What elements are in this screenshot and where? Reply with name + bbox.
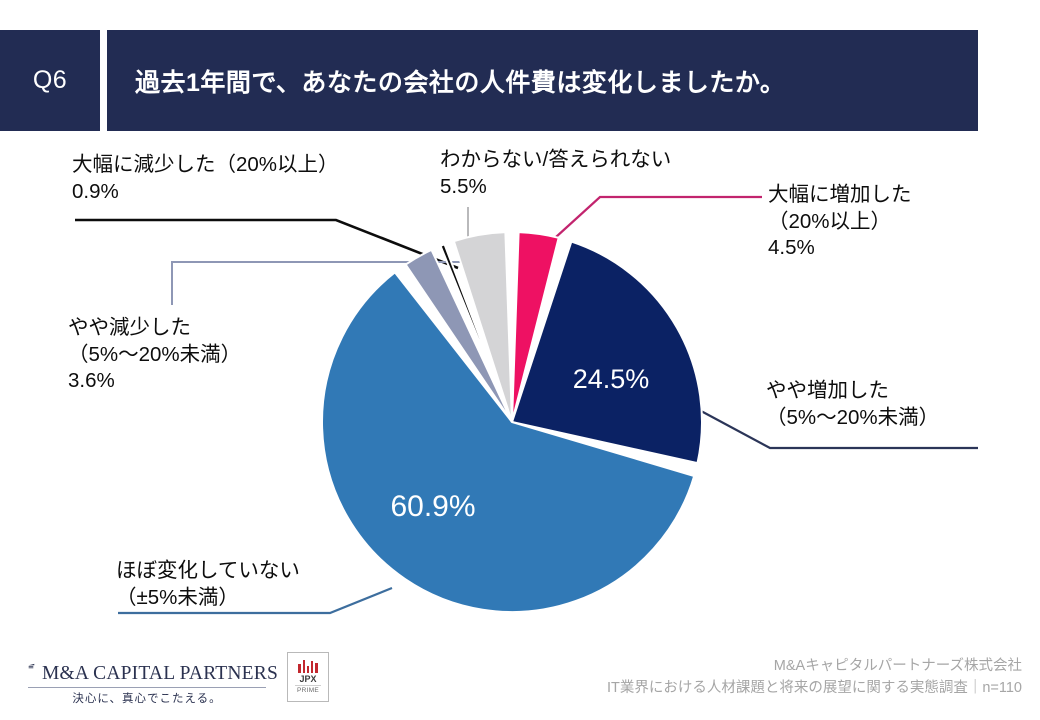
logo-divider [28,687,266,688]
logo-tagline: 決心に、真心でこたえる。 [28,690,266,706]
jpx-prime-badge: JPX PRIME [287,652,329,702]
jpx-label: JPX [299,675,316,684]
jpx-bars-icon [298,660,317,673]
logo-mark-icon [28,650,35,683]
callout-no-change: ほぼ変化していない （±5%未満） [116,558,300,611]
leader-line-big-increase [556,197,762,237]
slice-value-no-change: 60.9% [390,490,475,523]
callout-unknown: わからない/答えられない 5.5% [440,147,671,200]
slide-canvas: Q6 過去1年間で、あなたの会社の人件費は変化しましたか。 24.5% 60.9… [0,0,1040,720]
callout-small-increase: やや増加した （5%～20%未満） [766,378,939,431]
logo-wordmark: M&A CAPITAL PARTNERS [42,664,278,684]
footer-company: M&Aキャピタルパートナーズ株式会社 [607,655,1022,677]
pie-slices [322,232,702,612]
leader-line-big-decrease [75,220,458,268]
company-logo: M&A CAPITAL PARTNERS 決心に、真心でこたえる。 [28,650,278,706]
callout-big-increase: 大幅に増加した （20%以上） 4.5% [768,182,912,262]
slice-value-small-increase: 24.5% [573,364,650,394]
footer-credits: M&Aキャピタルパートナーズ株式会社 IT業界における人材課題と将来の展望に関す… [607,655,1022,700]
footer-survey: IT業界における人材課題と将来の展望に関する実態調査｜n=110 [607,677,1022,699]
jpx-sublabel: PRIME [295,685,321,694]
callout-big-decrease: 大幅に減少した（20%以上） 0.9% [72,152,339,205]
callout-small-decrease: やや減少した （5%～20%未満） 3.6% [68,315,241,395]
